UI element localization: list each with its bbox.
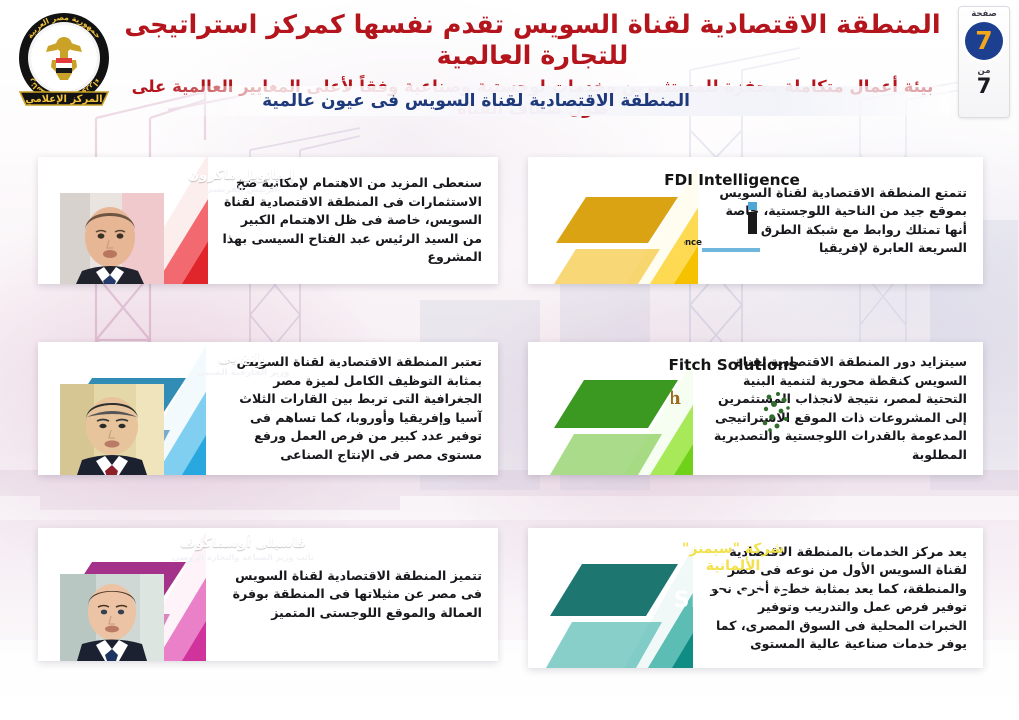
quote-card-fdi-intelligence[interactable]: FDI Intelligence fD Intelligence تتمتع ا… (528, 157, 983, 284)
org-brand-block: شركة "سيمنز" الألمانية SIEMENS (646, 541, 820, 612)
portrait-wang-yi (60, 384, 164, 475)
emblem-text-bottom: المركز الإعلامي (25, 94, 102, 105)
org-name: Fitch Solutions (646, 356, 820, 374)
quote-card-fitch-solutions[interactable]: Fitch Solutions Fitch Solutions سيتزايد … (528, 342, 983, 475)
quote-card-vasily-osmakov[interactable]: فاسيلى أوسماكوف نائب وزير الصناعة والتجا… (38, 528, 498, 661)
org-name-line-2: الألمانية (646, 558, 820, 575)
siemens-logo: SIEMENS (646, 586, 820, 612)
fitch-solutions-logo: Fitch Solutions (646, 381, 820, 437)
svg-text:Fitch: Fitch (671, 388, 681, 409)
svg-text:fD: fD (684, 198, 686, 241)
org-brand-block: Fitch Solutions Fitch Solutions (646, 356, 820, 437)
header: جمهورية مصر العربية رئاسة مجلس الوزراء ا… (0, 0, 1019, 130)
person-name-plate: وانغ يى وزير الخارجية الصينى (168, 351, 318, 379)
svg-text:SIEMENS: SIEMENS (674, 588, 793, 612)
section-banner: المنطقة الاقتصادية لقناة السويس فى عيون … (160, 86, 950, 116)
portrait-vasily-osmakov (60, 574, 164, 661)
page-number-circle: 7 (965, 22, 1003, 60)
quote-card-siemens[interactable]: شركة "سيمنز" الألمانية SIEMENS يعد مركز … (528, 528, 983, 668)
egypt-cabinet-media-center-emblem: جمهورية مصر العربية رئاسة مجلس الوزراء ا… (12, 8, 116, 112)
card-quote-text: تتميز المنطقة الاقتصادية لقناة السويس فى… (220, 567, 482, 623)
portrait-emmanuel-macron (60, 193, 164, 284)
person-name: وانغ يى (168, 351, 318, 366)
person-name-plate: فاسيلى أوسماكوف نائب وزير الصناعة والتجا… (166, 536, 320, 563)
person-name-plate: إيمانويل ماكرون الرئيس الفرنسى (166, 168, 316, 196)
person-role: الرئيس الفرنسى (166, 185, 316, 196)
page-indicator-label: صفحة (971, 10, 997, 19)
org-name: FDI Intelligence (646, 171, 818, 189)
section-banner-label: المنطقة الاقتصادية لقناة السويس فى عيون … (262, 91, 950, 111)
fdi-intelligence-logo: fD Intelligence (646, 196, 818, 254)
quote-card-wang-yi[interactable]: وانغ يى وزير الخارجية الصينى تعتبر المنط… (38, 342, 498, 475)
page-title: المنطقة الاقتصادية لقناة السويس تقدم نفس… (120, 10, 945, 71)
person-role: نائب وزير الصناعة والتجارة الروسى (166, 553, 320, 563)
person-name: إيمانويل ماكرون (166, 168, 316, 183)
org-brand-block: FDI Intelligence fD Intelligence (646, 171, 818, 254)
person-name: فاسيلى أوسماكوف (166, 536, 320, 551)
page-indicator: صفحة 7 من 7 (958, 6, 1010, 118)
page-number-total: 7 (977, 76, 992, 97)
org-name-line-1: شركة "سيمنز" (646, 541, 820, 558)
person-role: وزير الخارجية الصينى (168, 368, 318, 379)
quote-card-macron[interactable]: إيمانويل ماكرون الرئيس الفرنسى سنعطى الم… (38, 157, 498, 284)
svg-text:Intelligence: Intelligence (684, 238, 702, 248)
page-number-current: 7 (975, 28, 992, 53)
